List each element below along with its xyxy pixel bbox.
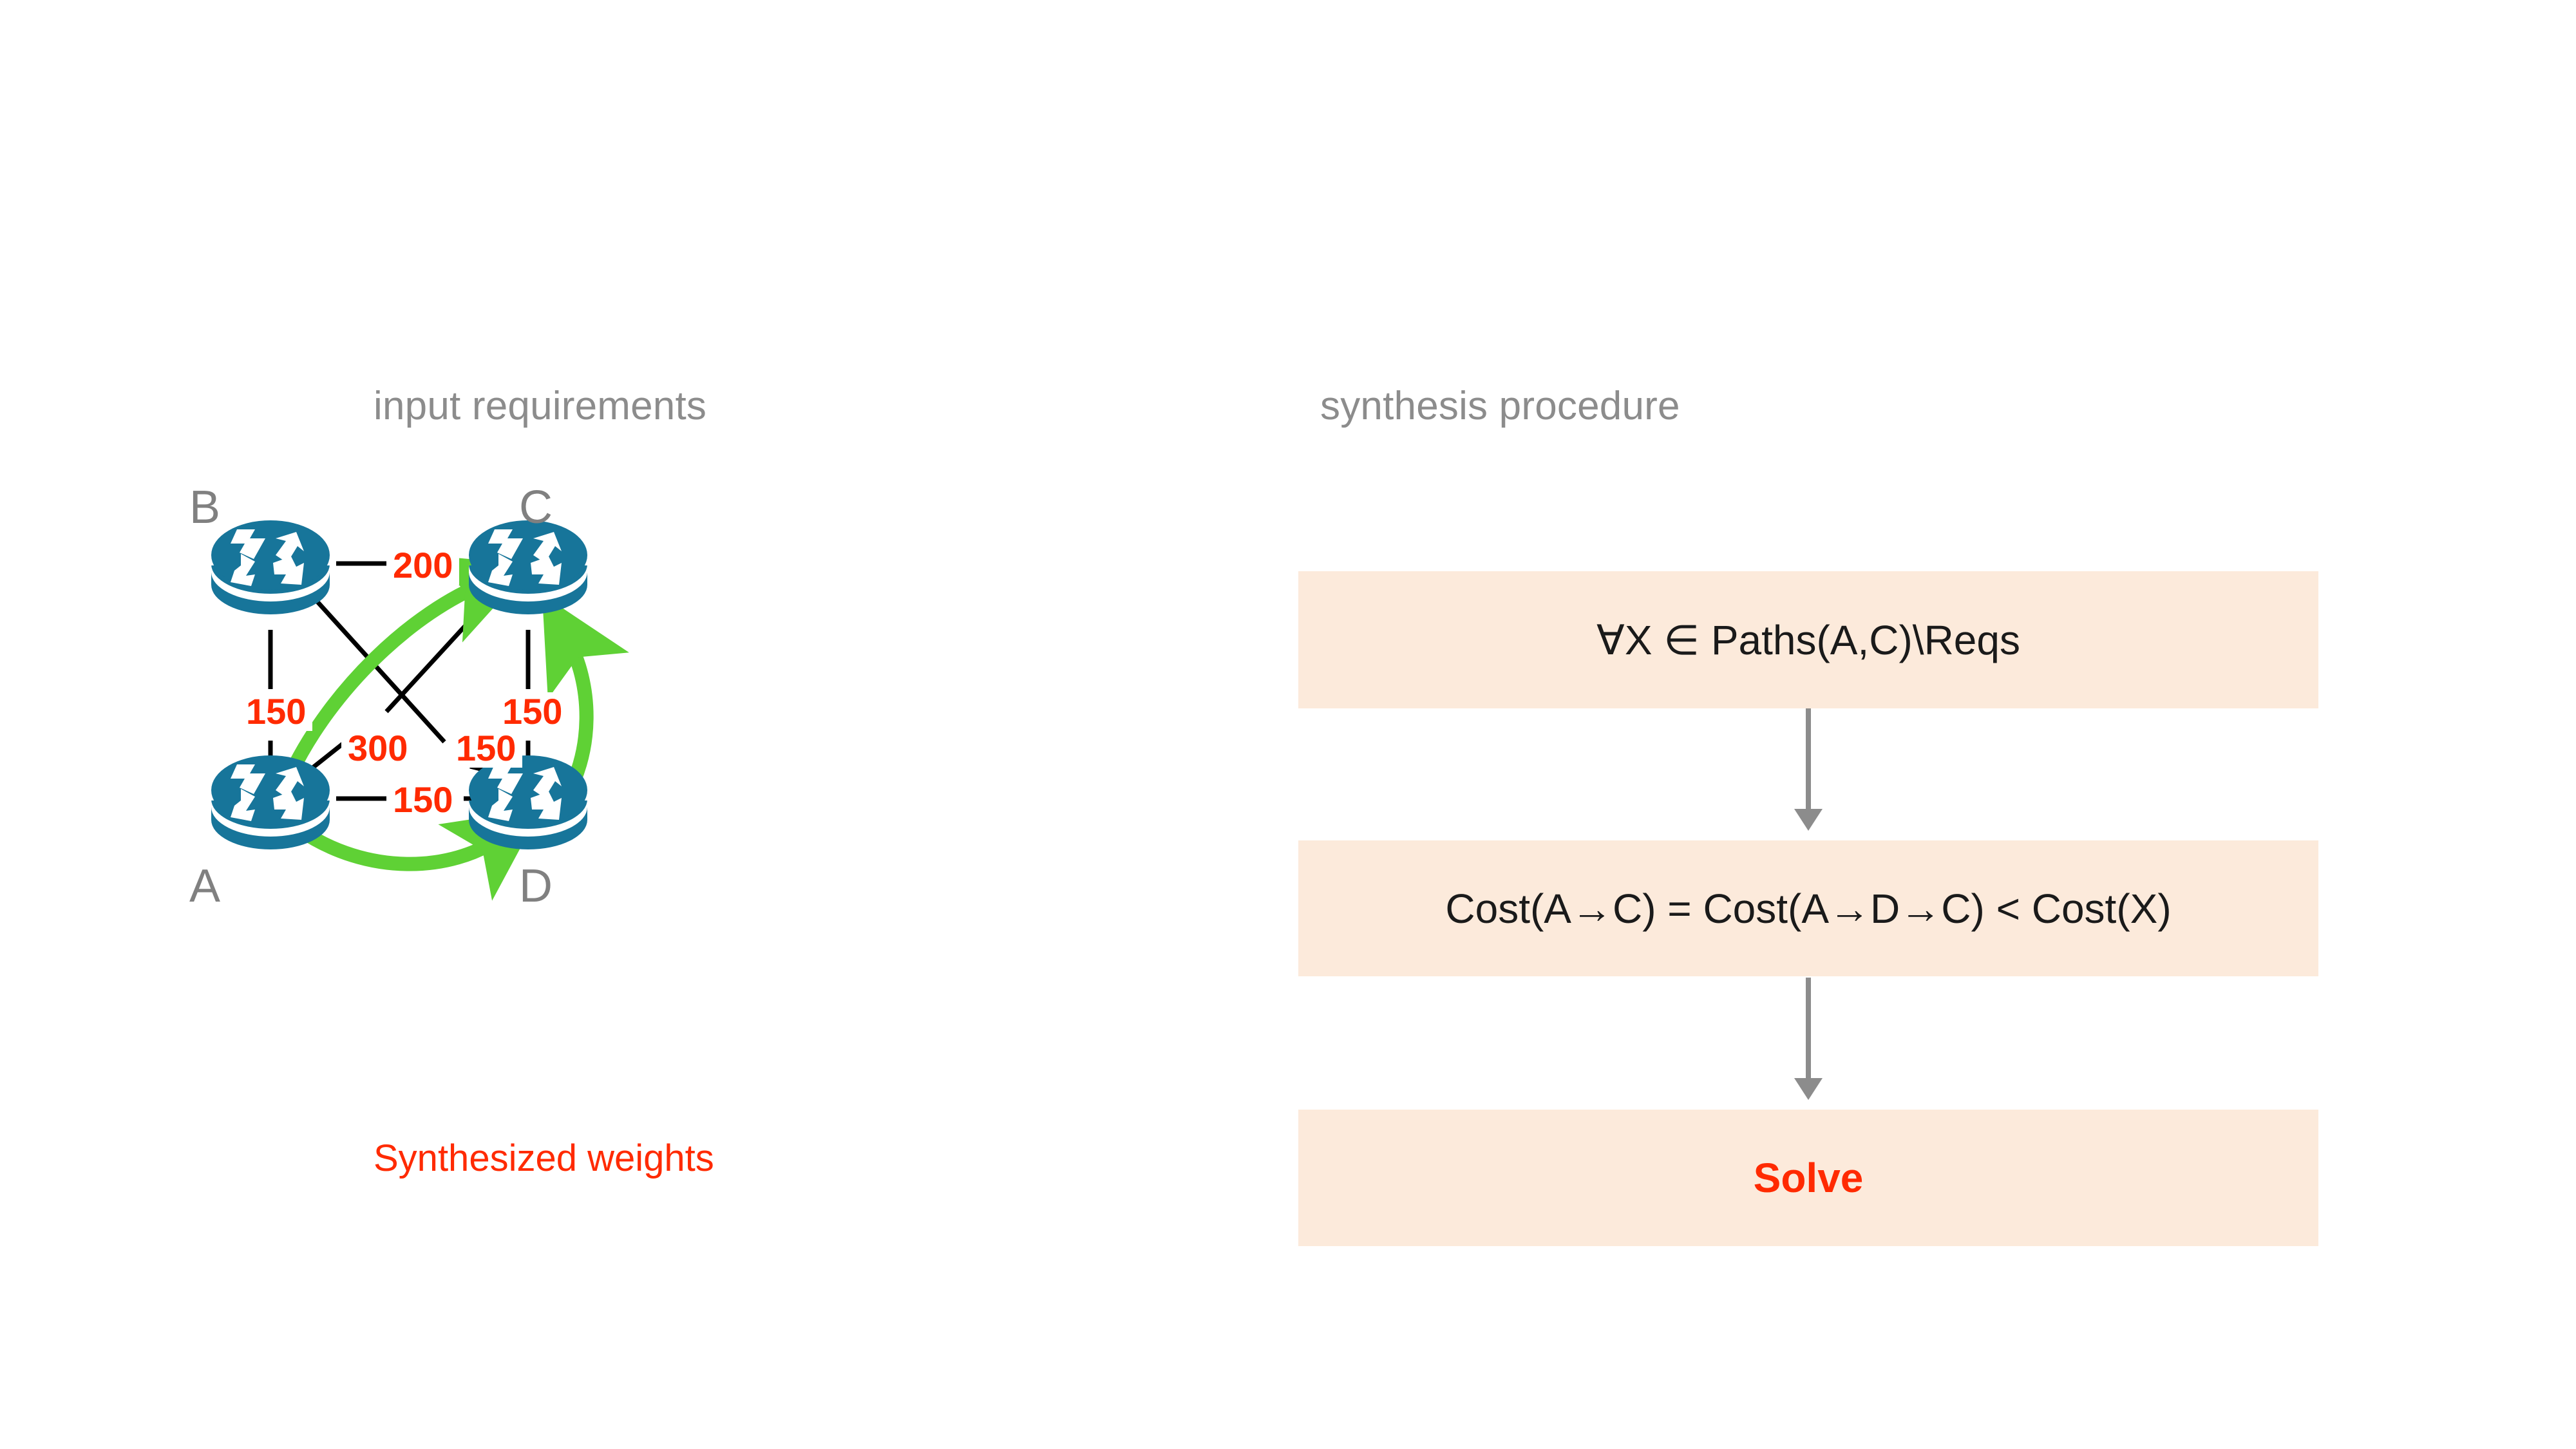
router-node-d[interactable] [469,755,587,849]
node-label-d: D [519,863,553,909]
weight-label-bd: 150 [450,729,522,768]
weight-label-ac: 300 [341,729,414,768]
router-node-a[interactable] [211,755,330,849]
weight-label-ab: 150 [240,692,312,731]
synthesis-procedure-flow: ∀X ∈ Paths(A,C)\Reqs Cost(A→C) = Cost(A→… [1298,567,2318,1249]
synthesized-weights-caption: Synthesized weights [374,1140,714,1177]
flow-step-cost-constraint[interactable]: Cost(A→C) = Cost(A→D→C) < Cost(X) [1298,840,2318,976]
input-requirements-heading: input requirements [374,386,706,426]
synthesis-procedure-heading: synthesis procedure [1320,386,1680,426]
flow-arrow-down-icon-2 [1806,978,1811,1081]
router-node-c[interactable] [469,520,587,614]
req-path-a-to-d [299,829,501,864]
flow-step-cost-constraint-text: Cost(A→C) = Cost(A→D→C) < Cost(X) [1445,888,2171,929]
flow-arrow-down-icon-1 [1806,708,1811,811]
flow-step-solve[interactable]: Solve [1298,1110,2318,1246]
weight-label-ad: 150 [386,781,459,819]
weight-label-bc: 200 [386,546,459,585]
network-graph-svg [193,451,1030,1095]
node-label-b: B [189,484,220,531]
flow-step-quantifier[interactable]: ∀X ∈ Paths(A,C)\Reqs [1298,571,2318,708]
flow-step-solve-text: Solve [1754,1157,1864,1198]
node-label-a: A [189,863,220,909]
flow-step-quantifier-text: ∀X ∈ Paths(A,C)\Reqs [1596,620,2020,661]
network-topology-diagram: B C A D 200 150 150 150 300 150 [193,451,1030,1095]
node-label-c: C [519,484,553,531]
router-node-b[interactable] [211,520,330,614]
weight-label-cd: 150 [496,692,569,731]
